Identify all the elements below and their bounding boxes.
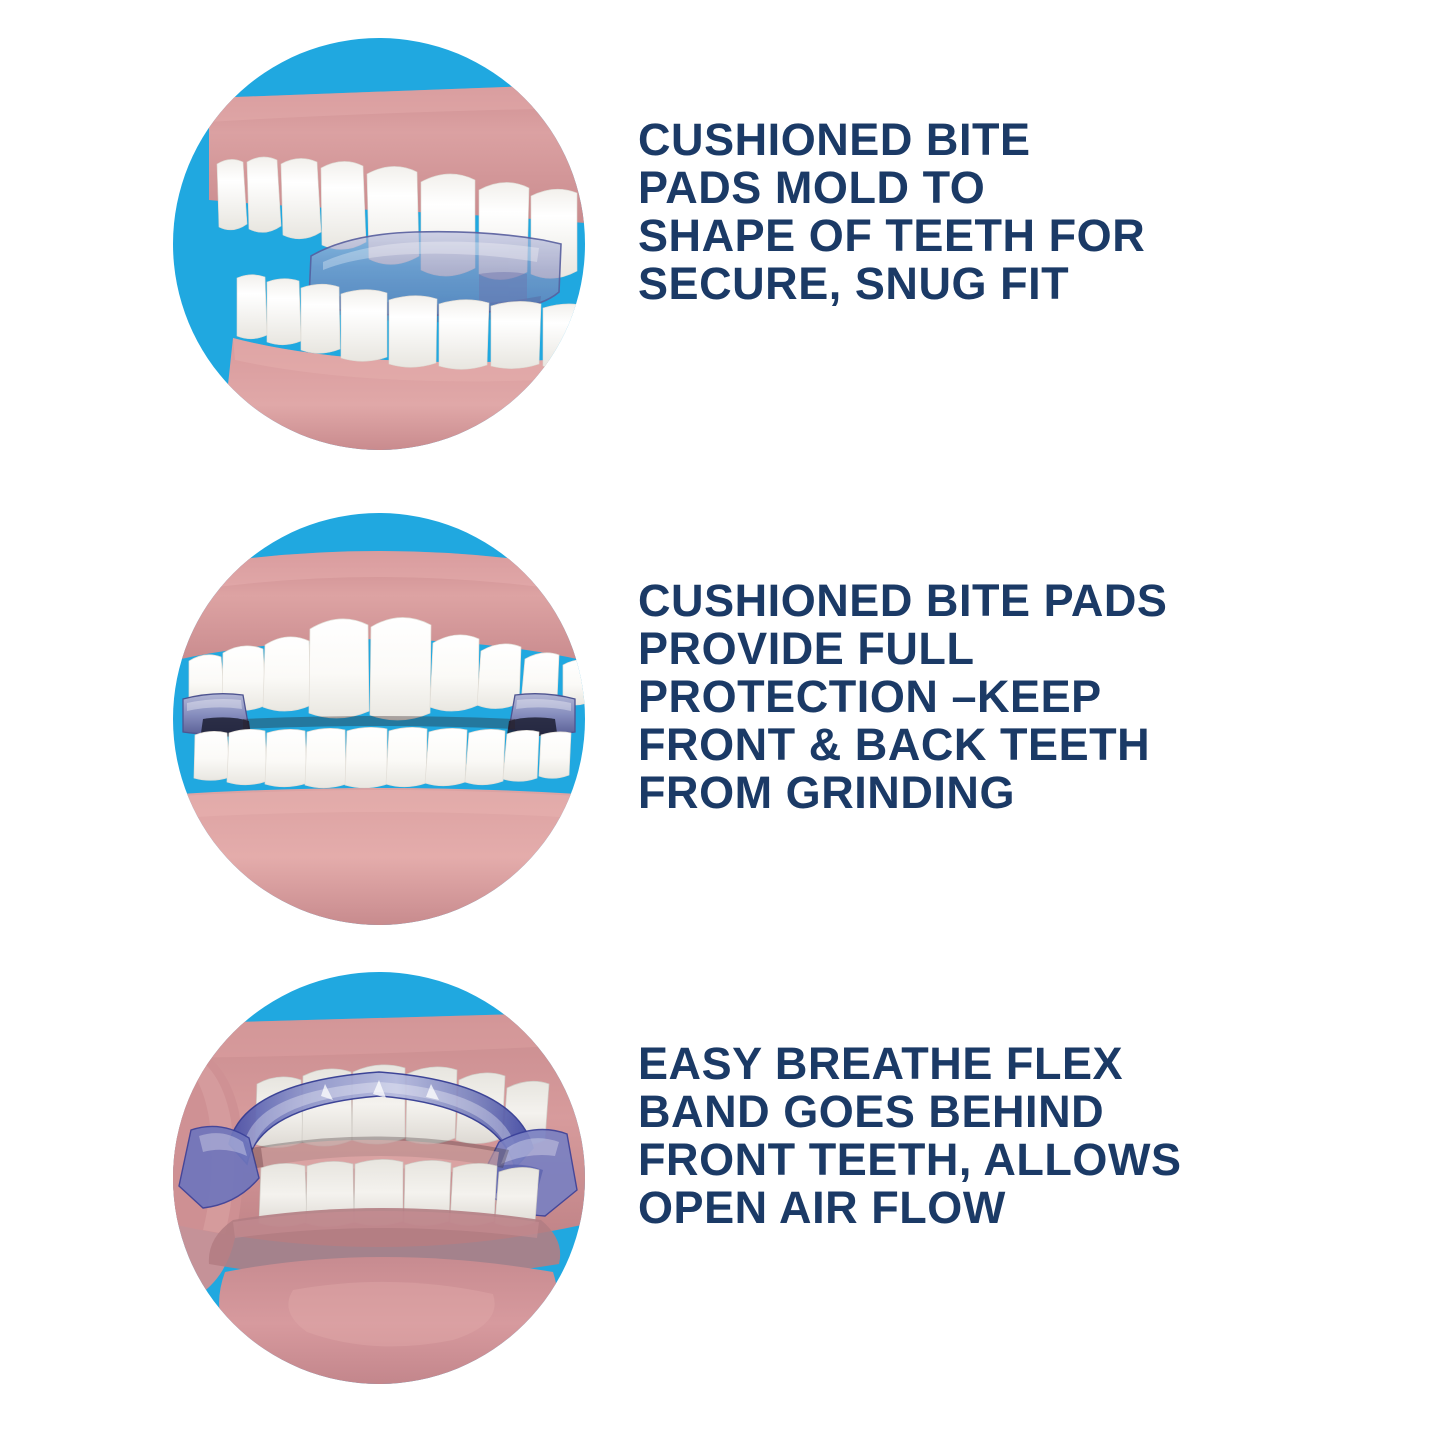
feature-row-2: CUSHIONED BITE PADS PROVIDE FULL PROTECT…	[0, 513, 1445, 925]
feature-caption-2: CUSHIONED BITE PADS PROVIDE FULL PROTECT…	[638, 577, 1167, 817]
feature-caption-1: CUSHIONED BITE PADS MOLD TO SHAPE OF TEE…	[638, 116, 1145, 308]
infographic-page: CUSHIONED BITE PADS MOLD TO SHAPE OF TEE…	[0, 0, 1445, 1445]
illustration-teeth-side-view-with-mouthguard	[173, 38, 585, 450]
illustration-teeth-inner-view-with-flex-band	[173, 972, 585, 1384]
feature-row-1: CUSHIONED BITE PADS MOLD TO SHAPE OF TEE…	[0, 38, 1445, 450]
feature-row-3: EASY BREATHE FLEX BAND GOES BEHIND FRONT…	[0, 972, 1445, 1384]
bite-pad-right	[507, 694, 575, 737]
feature-caption-3: EASY BREATHE FLEX BAND GOES BEHIND FRONT…	[638, 1040, 1182, 1232]
illustration-teeth-front-view-with-bite-pads	[173, 513, 585, 925]
